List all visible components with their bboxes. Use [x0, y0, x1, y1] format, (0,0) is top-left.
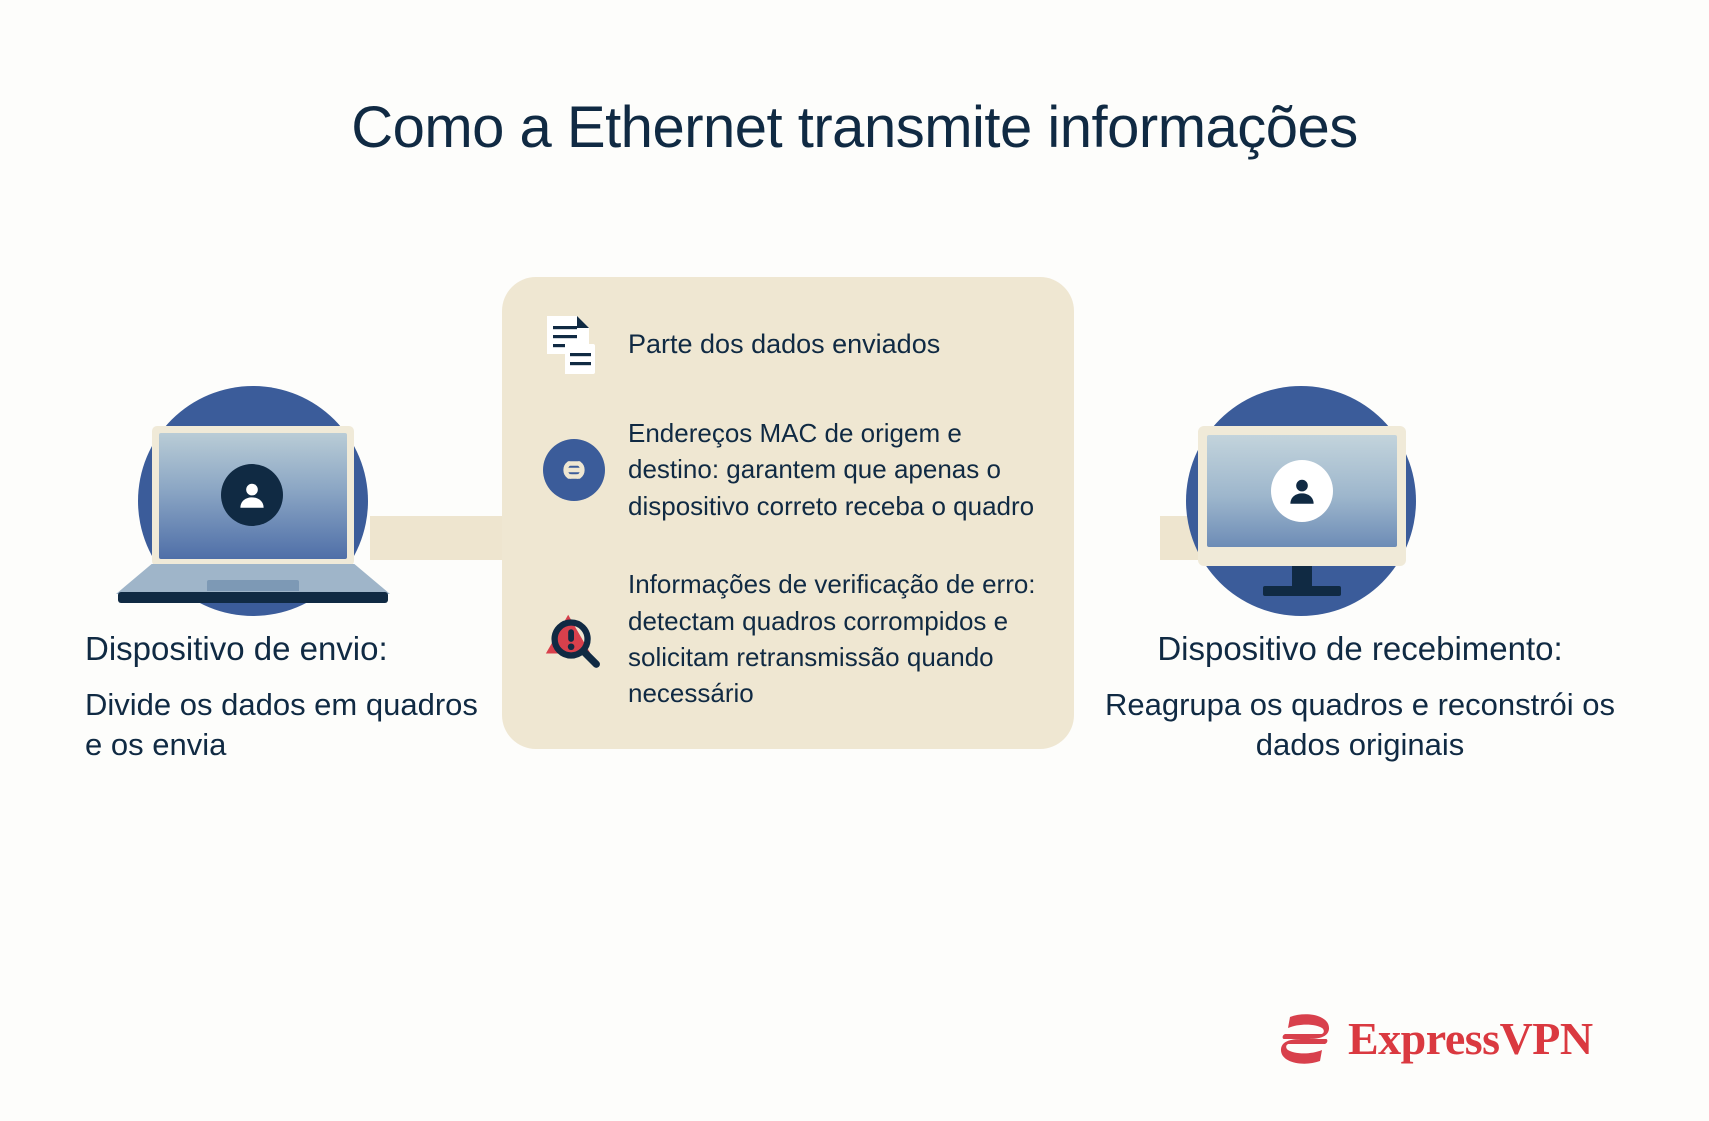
right-device-graphic: [1186, 386, 1416, 616]
error-check-icon-glyph: [542, 606, 606, 672]
expressvpn-logo[interactable]: ExpressVPN: [1276, 1012, 1593, 1065]
monitor-user-icon: [1198, 426, 1406, 601]
panel-item-data: Parte dos dados enviados: [542, 313, 1050, 377]
monitor-foot: [1263, 586, 1341, 596]
monitor-neck: [1292, 566, 1312, 588]
avatar: [221, 464, 283, 526]
panel-item-text: Endereços MAC de origem e destino: garan…: [628, 415, 1050, 524]
documents-icon: [542, 313, 606, 377]
caption-body: Divide os dados em quadros e os envia: [85, 685, 490, 764]
caption-body: Reagrupa os quadros e reconstrói os dado…: [1060, 685, 1660, 764]
expressvpn-wordmark: ExpressVPN: [1348, 1012, 1593, 1065]
error-check-icon: [542, 607, 606, 671]
panel-item-text: Parte dos dados enviados: [628, 326, 940, 364]
caption-title: Dispositivo de recebimento:: [1060, 628, 1660, 669]
avatar: [1271, 460, 1333, 522]
link-chain-icon: [542, 438, 606, 502]
link-chain-icon-glyph: [543, 439, 605, 501]
left-device-graphic: [138, 386, 368, 616]
documents-icon-glyph: [545, 314, 603, 376]
user-glyph-icon: [1285, 474, 1319, 508]
infographic-canvas: Como a Ethernet transmite informações: [0, 0, 1709, 1121]
panel-item-text: Informações de verificação de erro: dete…: [628, 566, 1050, 712]
caption-title: Dispositivo de envio:: [85, 628, 490, 669]
user-glyph-icon: [235, 478, 269, 512]
ethernet-frame-panel: Parte dos dados enviados Endereços MAC d…: [502, 277, 1074, 749]
left-device-caption: Dispositivo de envio: Divide os dados em…: [40, 628, 490, 765]
laptop-user-icon: [116, 426, 390, 604]
panel-item-error-check: Informações de verificação de erro: dete…: [542, 566, 1050, 712]
page-title: Como a Ethernet transmite informações: [0, 96, 1709, 160]
right-device-caption: Dispositivo de recebimento: Reagrupa os …: [1060, 628, 1660, 765]
laptop-trackpad: [207, 580, 299, 591]
panel-item-mac: Endereços MAC de origem e destino: garan…: [542, 415, 1050, 524]
expressvpn-mark-icon: [1276, 1013, 1334, 1065]
laptop-foot: [118, 592, 388, 603]
